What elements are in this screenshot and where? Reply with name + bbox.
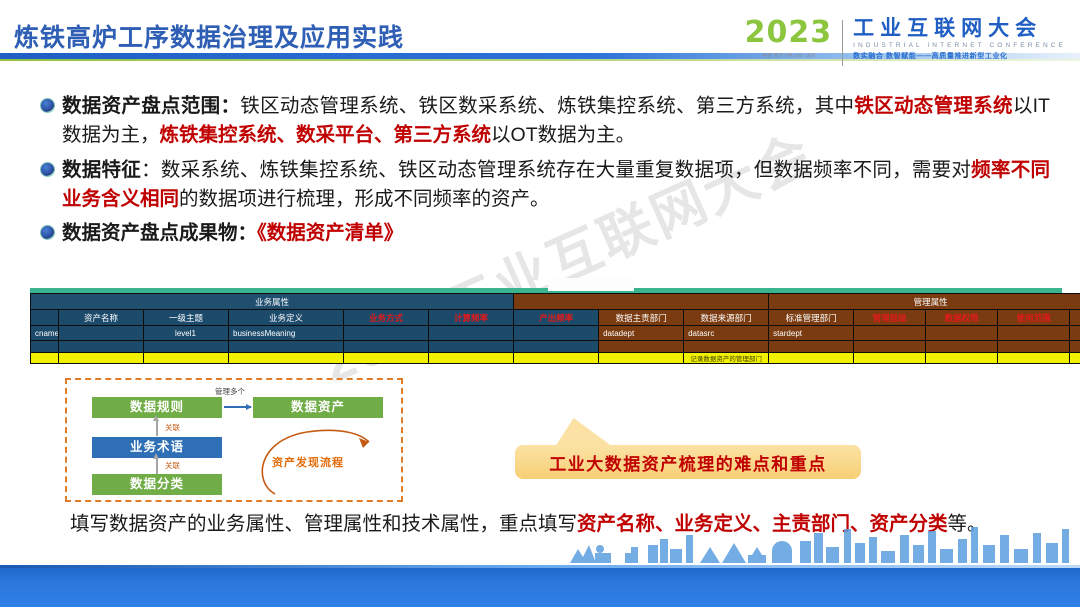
table-cell [769,353,854,364]
bullet-text: 数据资产盘点成果物：《数据资产清单》 [62,219,403,248]
table-cell [684,341,769,353]
table-cell [344,326,429,341]
bullet-list: 数据资产盘点范围：铁区动态管理系统、铁区数采系统、炼铁集控系统、第三方系统，其中… [40,92,1050,254]
table-cell [599,341,684,353]
table-cell [926,326,998,341]
table-cell [854,326,926,341]
bullet-segment: 炼铁集控系统、数采平台、第三方系统 [160,124,492,146]
bullet-segment: 铁区动态管理系统 [854,95,1012,117]
table-cell [854,341,926,353]
table-cell: stardept [769,326,854,341]
bullet-item: 数据特征：数采系统、炼铁集控系统、铁区动态管理系统存在大量重复数据项，但数据频率… [40,156,1050,214]
bullet-segment: 数据资产盘点成果物： [62,222,257,244]
table-column-header[interactable]: 管理层级 [854,310,926,326]
logo-year: 2023 [745,18,833,48]
table-cell [998,326,1070,341]
table-cell [514,353,599,364]
table-cell [344,341,429,353]
table-cell: level1 [144,326,229,341]
table-cell [854,353,926,364]
table-column-header[interactable] [1070,310,1080,326]
table-white-tab [548,278,634,291]
table-section-header: 业务属性 [31,294,514,310]
conference-logo: 2023 中国·苏州 9月14日-16日 工业互联网大会 INDUSTRIAL … [745,18,1066,70]
bullet-segment: ：数采系统、炼铁集控系统、铁区动态管理系统存在大量重复数据项，但数据频率不同，需… [141,159,971,181]
table-column-header[interactable] [31,310,59,326]
bullet-segment: 的数据项进行梳理，形成不同频率的资产。 [179,188,550,210]
bullet-segment: 《数据资产清单》 [257,222,403,244]
table-cell: cname [31,326,59,341]
table-column-header[interactable]: 数据权限 [926,310,998,326]
table-section-header [514,294,769,310]
table-column-header[interactable]: 业务定义 [229,310,344,326]
diagram-label-manage-many: 管理多个 [215,386,245,397]
table-grid: 业务属性管理属性资产名称一级主题业务定义业务方式计算频率产出频率数据主责部门数据… [30,293,1080,364]
logo-year-subtitle: 中国·苏州 9月14日-16日 [748,52,829,58]
table-row: 记录数据资产的管理部门 [31,353,1080,364]
callout-pointer [554,418,617,448]
table-row [31,341,1080,353]
table-column-header-row: 资产名称一级主题业务定义业务方式计算频率产出频率数据主责部门数据来源部门标准管理… [31,310,1080,326]
table-column-header[interactable]: 一级主题 [144,310,229,326]
bullet-segment: 数据资产盘点范围： [62,95,240,117]
table-cell [144,341,229,353]
table-section-header: 管理属性 [769,294,1080,310]
bullet-item: 数据资产盘点成果物：《数据资产清单》 [40,219,1050,248]
page-title: 炼铁高炉工序数据治理及应用实践 [14,18,404,54]
table-column-header[interactable]: 业务方式 [344,310,429,326]
table-cell [144,353,229,364]
table-column-header[interactable]: 计算频率 [429,310,514,326]
bullet-text: 数据特征：数采系统、炼铁集控系统、铁区动态管理系统存在大量重复数据项，但数据频率… [62,156,1050,214]
table-cell [1070,326,1080,341]
curved-flow-arrow-icon [245,410,385,520]
table-cell [599,353,684,364]
table-cell [31,353,59,364]
arrow-right-icon [224,406,251,408]
table-row: cnamelevel1businessMeaningdatadeptdatasr… [31,326,1080,341]
logo-english-name: INDUSTRIAL INTERNET CONFERENCE [853,42,1066,49]
table-column-header[interactable]: 数据来源部门 [684,310,769,326]
bullet-segment: 数据特征 [62,159,141,181]
table-cell: 记录数据资产的管理部门 [684,353,769,364]
bullet-dot-icon [40,225,55,240]
logo-divider [842,20,843,66]
table-cell: businessMeaning [229,326,344,341]
table-cell [229,341,344,353]
table-cell [429,341,514,353]
table-cell [1070,341,1080,353]
table-cell [344,353,429,364]
diagram-label-relation-1: 关联 [165,422,180,433]
table-column-header[interactable]: 数据主责部门 [599,310,684,326]
arrow-up-icon-1 [156,420,158,436]
footer-band [0,565,1080,607]
bullet-dot-icon [40,162,55,177]
table-cell [229,353,344,364]
bullet-text: 数据资产盘点范围：铁区动态管理系统、铁区数采系统、炼铁集控系统、第三方系统，其中… [62,92,1050,150]
table-cell [429,353,514,364]
table-cell [31,341,59,353]
table-column-header[interactable]: 产出频率 [514,310,599,326]
table-cell [59,341,144,353]
table-cell [59,353,144,364]
table-cell [514,341,599,353]
data-asset-table: 业务属性管理属性资产名称一级主题业务定义业务方式计算频率产出频率数据主责部门数据… [30,288,1062,364]
skyline-decoration [0,525,1080,565]
table-cell [998,341,1070,353]
callout-text: 工业大数据资产梳理的难点和重点 [549,450,827,475]
table-cell [926,353,998,364]
bullet-segment: 铁区动态管理系统、铁区数采系统、炼铁集控系统、第三方系统，其中 [240,95,854,117]
logo-chinese-name: 工业互联网大会 [853,18,1066,40]
bullet-dot-icon [40,98,55,113]
table-cell: datadept [599,326,684,341]
diagram-label-relation-2: 关联 [165,460,180,471]
table-cell [926,341,998,353]
logo-text-block: 工业互联网大会 INDUSTRIAL INTERNET CONFERENCE 数… [853,18,1066,61]
table-cell [59,326,144,341]
table-section-header-row: 业务属性管理属性 [31,294,1080,310]
logo-year-block: 2023 中国·苏州 9月14日-16日 [745,18,843,59]
arrow-up-icon-2 [156,458,158,474]
asset-discovery-diagram: 数据规则 业务术语 数据分类 数据资产 管理多个 关联 关联 资产发现流程 [65,378,403,502]
table-cell [514,326,599,341]
table-cell [998,353,1070,364]
table-column-header[interactable]: 使用范围 [998,310,1070,326]
table-cell [1070,353,1080,364]
table-column-header[interactable]: 标准管理部门 [769,310,854,326]
table-cell [429,326,514,341]
bullet-segment: 以OT数据为主。 [491,124,635,146]
bullet-item: 数据资产盘点范围：铁区动态管理系统、铁区数采系统、炼铁集控系统、第三方系统，其中… [40,92,1050,150]
table-column-header[interactable]: 资产名称 [59,310,144,326]
logo-slogan: 数实融合 数智赋能——高质量推进新型工业化 [853,51,1066,61]
table-cell: datasrc [684,326,769,341]
table-cell [769,341,854,353]
callout-box: 工业大数据资产梳理的难点和重点 [515,445,861,479]
diagram-box-data-class: 数据分类 [92,474,222,495]
